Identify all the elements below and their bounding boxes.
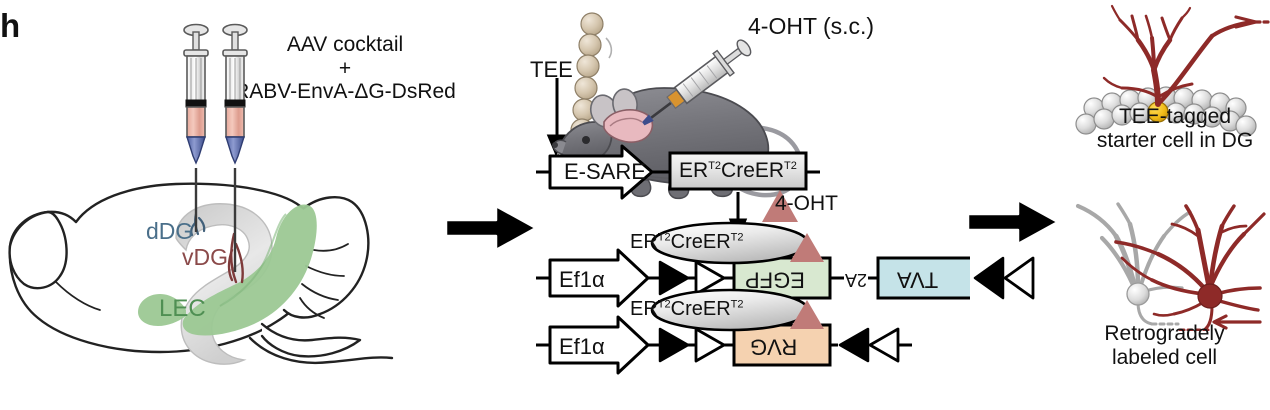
gene-label-rvg: RVG — [750, 334, 797, 359]
retrograde-soma — [1198, 284, 1222, 308]
region-label-LEC: LEC — [159, 296, 206, 323]
retro-caption-line1: Retrogradely — [1062, 322, 1267, 346]
unlabeled-soma — [1127, 283, 1149, 305]
starter-caption-line1: TEE-tagged — [1080, 105, 1270, 129]
starter-cell-svg — [1060, 0, 1270, 200]
flow-arrow-2 — [962, 192, 1072, 252]
oht-label: 4-OHT — [775, 192, 838, 216]
gene-label-ef1a-2: Ef1α — [559, 335, 605, 360]
region-label-dDG: dDG — [146, 219, 193, 245]
starter-caption-line2: starter cell in DG — [1080, 129, 1270, 153]
gene-label-ef1a-1: Ef1α — [559, 268, 605, 293]
retrograde-cell-caption: Retrogradely labeled cell — [1062, 322, 1267, 369]
gene-label-tva: TVA — [897, 267, 938, 292]
starter-cell-caption: TEE-tagged starter cell in DG — [1080, 105, 1270, 152]
region-label-vDG: vDG — [182, 245, 228, 271]
gene-label-egfp: EGFP — [745, 267, 805, 292]
syringe-2 — [223, 25, 247, 164]
gene-label-creer-oval-3: ERT2CreERT2 — [630, 298, 744, 320]
gene-label-2a: 2A — [845, 270, 867, 290]
figure-panel-h: h AAV cocktail + RABV-EnvA-ΔG-DsRed — [0, 0, 1270, 410]
gene-label-creer-oval-2: ERT2CreERT2 — [630, 231, 744, 253]
gene-label-esare: E-SARE — [564, 160, 646, 185]
lox-pair-right-construct2 — [965, 250, 1035, 310]
syringe-1 — [184, 25, 208, 164]
gene-label-creer-1: ERT2CreERT2 — [679, 159, 797, 183]
retro-caption-line2: labeled cell — [1062, 346, 1267, 370]
brain-injection-svg — [0, 0, 440, 410]
retrograde-cell-svg — [1058, 196, 1270, 331]
